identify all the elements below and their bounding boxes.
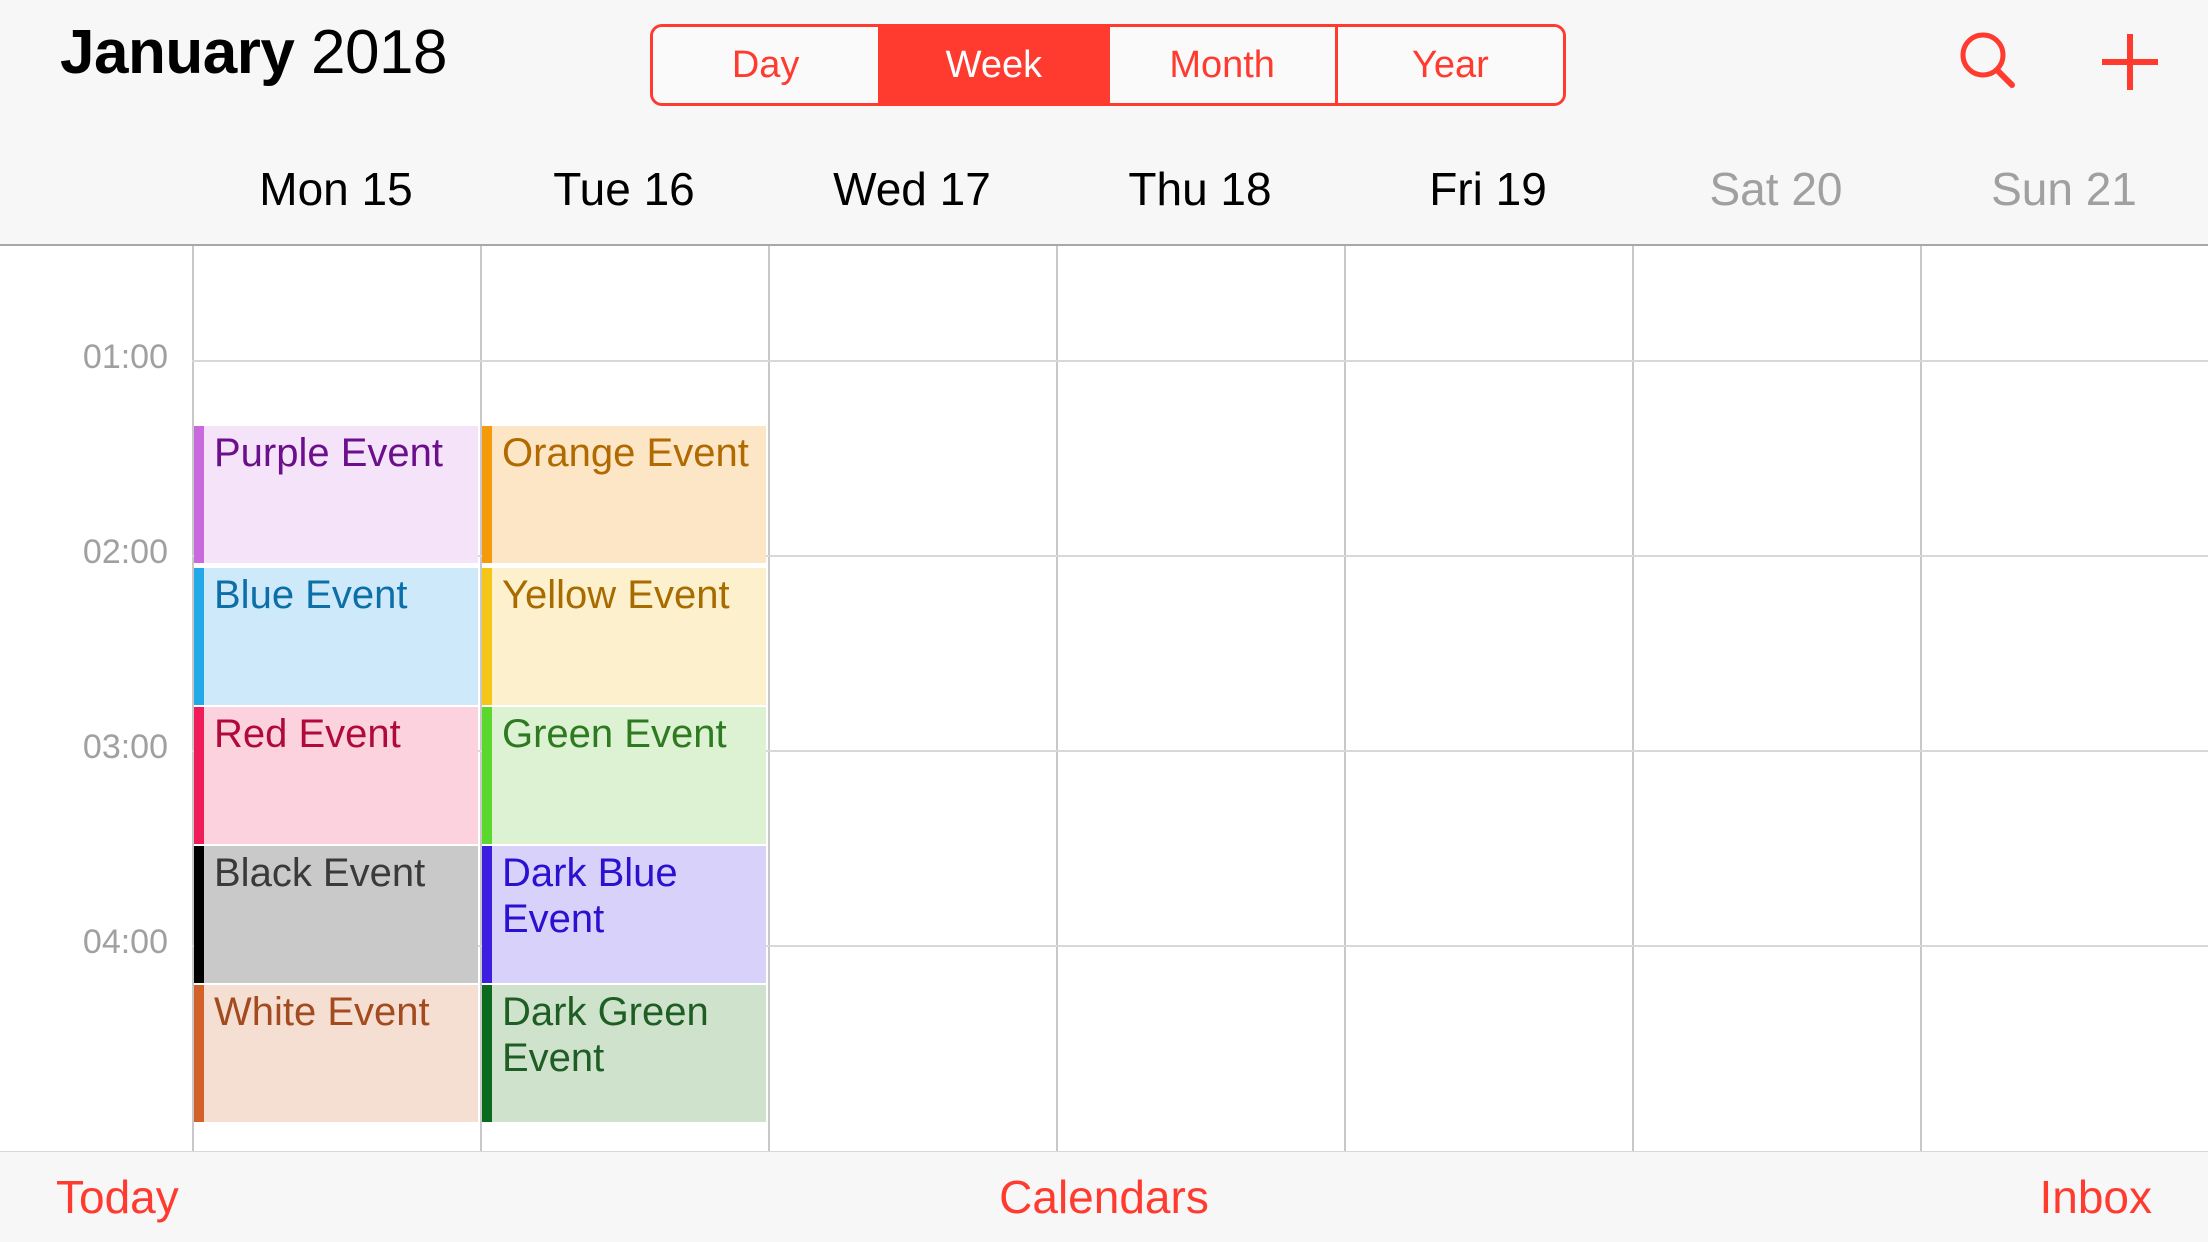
day-header-mon[interactable]: Mon 15 — [192, 134, 480, 244]
calendar-event[interactable]: White Event — [194, 985, 478, 1122]
hour-label: 01:00 — [0, 338, 168, 377]
inbox-button[interactable]: Inbox — [2039, 1152, 2152, 1242]
calendar-event[interactable]: Yellow Event — [482, 568, 766, 705]
event-title: Green Event — [502, 711, 766, 757]
calendar-event[interactable]: Dark Blue Event — [482, 846, 766, 983]
page-title: January 2018 — [60, 17, 447, 89]
day-header-thu[interactable]: Thu 18 — [1056, 134, 1344, 244]
plus-icon[interactable] — [2090, 22, 2170, 102]
event-title: Dark Green Event — [502, 989, 766, 1081]
hour-label: 02:00 — [0, 533, 168, 572]
title-month: January — [60, 18, 294, 87]
bottom-toolbar: Calendars Today Inbox — [0, 1151, 2208, 1242]
title-year: 2018 — [311, 18, 447, 87]
hour-label: 03:00 — [0, 728, 168, 767]
navigation-bar: January 2018 DayWeekMonthYear — [0, 0, 2208, 135]
today-button[interactable]: Today — [56, 1152, 179, 1242]
calendar-event[interactable]: Black Event — [194, 846, 478, 983]
day-header-wed[interactable]: Wed 17 — [768, 134, 1056, 244]
grid-column-separator — [1632, 246, 1634, 1152]
event-title: Dark Blue Event — [502, 850, 766, 942]
search-icon[interactable] — [1948, 22, 2028, 102]
event-title: Yellow Event — [502, 572, 766, 618]
event-title: Orange Event — [502, 430, 766, 476]
segment-day[interactable]: Day — [653, 27, 881, 103]
day-header-row: Mon 15Tue 16Wed 17Thu 18Fri 19Sat 20Sun … — [0, 134, 2208, 246]
calendar-event[interactable]: Purple Event — [194, 426, 478, 563]
calendars-button[interactable]: Calendars — [0, 1152, 2208, 1242]
hour-gridline — [192, 360, 2208, 362]
week-grid: 01:0002:0003:0004:00Purple EventOrange E… — [0, 246, 2208, 1152]
day-header-columns: Mon 15Tue 16Wed 17Thu 18Fri 19Sat 20Sun … — [192, 134, 2208, 244]
event-title: Red Event — [214, 711, 478, 757]
grid-column-separator — [768, 246, 770, 1152]
day-header-sun[interactable]: Sun 21 — [1920, 134, 2208, 244]
view-segmented-control[interactable]: DayWeekMonthYear — [650, 24, 1566, 106]
segment-week[interactable]: Week — [881, 27, 1109, 103]
grid-column-separator — [1920, 246, 1922, 1152]
day-header-sat[interactable]: Sat 20 — [1632, 134, 1920, 244]
calendar-event[interactable]: Orange Event — [482, 426, 766, 563]
event-title: Blue Event — [214, 572, 478, 618]
calendar-event[interactable]: Red Event — [194, 707, 478, 844]
event-title: Purple Event — [214, 430, 478, 476]
segment-month[interactable]: Month — [1110, 27, 1338, 103]
day-header-fri[interactable]: Fri 19 — [1344, 134, 1632, 244]
grid-column-separator — [1344, 246, 1346, 1152]
grid-column-separator — [1056, 246, 1058, 1152]
calendar-event[interactable]: Blue Event — [194, 568, 478, 705]
event-title: Black Event — [214, 850, 478, 896]
day-header-tue[interactable]: Tue 16 — [480, 134, 768, 244]
hour-label: 04:00 — [0, 923, 168, 962]
calendar-event[interactable]: Dark Green Event — [482, 985, 766, 1122]
calendar-app: January 2018 DayWeekMonthYear Mon 15Tue … — [0, 0, 2208, 1242]
calendar-event[interactable]: Green Event — [482, 707, 766, 844]
segment-year[interactable]: Year — [1338, 27, 1563, 103]
week-grid-scroll[interactable]: 01:0002:0003:0004:00Purple EventOrange E… — [0, 246, 2208, 1152]
day-header-gutter — [0, 134, 192, 244]
event-title: White Event — [214, 989, 478, 1035]
